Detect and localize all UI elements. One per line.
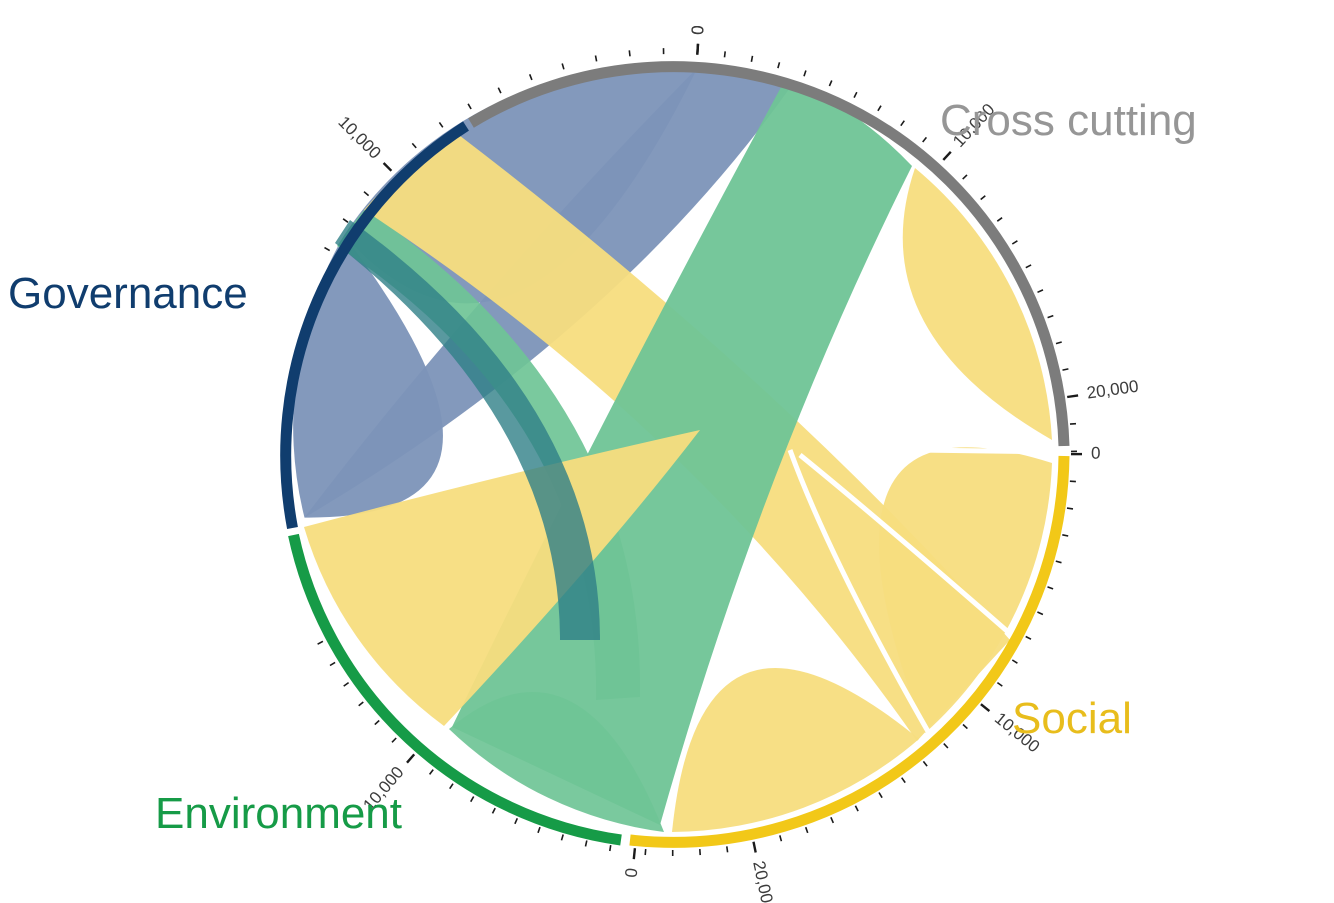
- axis-minor-tick: [902, 778, 906, 783]
- axis-minor-tick: [963, 725, 967, 729]
- axis-minor-tick: [515, 818, 517, 824]
- axis-minor-tick: [944, 744, 948, 748]
- axis-minor-tick: [751, 56, 752, 62]
- axis-minor-tick: [727, 846, 728, 852]
- axis-major-tick: [943, 152, 951, 160]
- axis-tick-label: 20,000: [1086, 377, 1140, 403]
- axis-minor-tick: [997, 218, 1002, 222]
- axis-minor-tick: [318, 641, 323, 644]
- axis-minor-tick: [1056, 561, 1062, 563]
- axis-minor-tick: [645, 849, 646, 855]
- axis-minor-tick: [1056, 342, 1062, 344]
- axis-minor-tick: [596, 56, 597, 62]
- axis-minor-tick: [1038, 290, 1044, 292]
- axis-minor-tick: [450, 784, 453, 789]
- separator-social-inner-1: [845, 449, 1060, 452]
- axis-minor-tick: [831, 817, 833, 823]
- axis-minor-tick: [923, 761, 927, 766]
- axis-major-tick: [754, 842, 756, 853]
- axis-major-tick: [1067, 395, 1078, 397]
- axis-minor-tick: [878, 106, 881, 111]
- axis-minor-tick: [725, 51, 726, 57]
- axis-minor-tick: [562, 64, 564, 70]
- axis-minor-tick: [530, 74, 532, 80]
- axis-minor-tick: [392, 738, 396, 742]
- axis-minor-tick: [829, 81, 831, 87]
- sector-label-governance: Governance: [8, 269, 248, 318]
- axis-minor-tick: [430, 770, 434, 775]
- axis-major-tick: [697, 44, 698, 55]
- axis-minor-tick: [562, 835, 564, 841]
- axis-major-tick: [634, 848, 635, 859]
- axis-minor-tick: [778, 62, 780, 68]
- axis-tick-label: 0: [1091, 444, 1101, 463]
- axis-minor-tick: [439, 122, 442, 127]
- axis-minor-tick: [610, 845, 611, 851]
- axis-minor-tick: [364, 192, 369, 196]
- axis-minor-tick: [854, 92, 857, 97]
- axis-minor-tick: [901, 121, 905, 126]
- axis-minor-tick: [498, 88, 501, 93]
- axis-minor-tick: [412, 143, 416, 148]
- axis-minor-tick: [1067, 508, 1073, 509]
- axis-minor-tick: [997, 683, 1002, 687]
- axis-minor-tick: [344, 683, 349, 687]
- axis-minor-tick: [981, 196, 986, 200]
- axis-minor-tick: [1062, 535, 1068, 536]
- sector-label-cross-cutting: Cross cutting: [940, 96, 1197, 145]
- axis-minor-tick: [963, 175, 967, 179]
- axis-minor-tick: [325, 248, 330, 251]
- axis-minor-tick: [1026, 265, 1031, 268]
- axis-minor-tick: [359, 702, 364, 706]
- axis-major-tick: [384, 163, 392, 171]
- axis-minor-tick: [806, 827, 808, 833]
- axis-minor-tick: [330, 662, 335, 665]
- axis-minor-tick: [923, 137, 927, 142]
- axis-minor-tick: [1012, 241, 1017, 244]
- axis-tick-label: 10,000: [334, 112, 384, 162]
- chord-diagram-canvas: 010,000010,00020,000010,00020,000010,000…: [0, 0, 1334, 903]
- axis-minor-tick: [804, 71, 806, 77]
- axis-minor-tick: [879, 793, 882, 798]
- ribbon-social-environment[interactable]: [672, 668, 919, 832]
- axis-minor-tick: [1048, 316, 1054, 318]
- axis-minor-tick: [780, 835, 782, 841]
- axis-major-tick: [981, 704, 990, 711]
- axis-minor-tick: [586, 841, 587, 847]
- axis-tick-label: 0: [688, 25, 708, 36]
- axis-minor-tick: [375, 721, 379, 725]
- axis-tick-label: 0: [622, 867, 642, 878]
- axis-minor-tick: [538, 827, 540, 833]
- sector-label-environment: Environment: [155, 789, 402, 838]
- axis-minor-tick: [1037, 612, 1043, 615]
- axis-minor-tick: [468, 104, 471, 109]
- sector-label-social: Social: [1012, 694, 1132, 743]
- axis-minor-tick: [471, 797, 474, 802]
- axis-minor-tick: [855, 806, 858, 811]
- axis-minor-tick: [343, 219, 348, 223]
- axis-tick-label: 20,000: [749, 859, 778, 903]
- chord-diagram-figure: 010,000010,00020,000010,00020,000010,000…: [0, 0, 1334, 903]
- axis-minor-tick: [1026, 637, 1031, 640]
- axis-minor-tick: [493, 808, 496, 813]
- axis-minor-tick: [1063, 369, 1069, 370]
- axis-minor-tick: [1048, 587, 1054, 589]
- axis-minor-tick: [629, 50, 630, 56]
- axis-minor-tick: [1012, 660, 1017, 663]
- axis-major-tick: [407, 754, 414, 762]
